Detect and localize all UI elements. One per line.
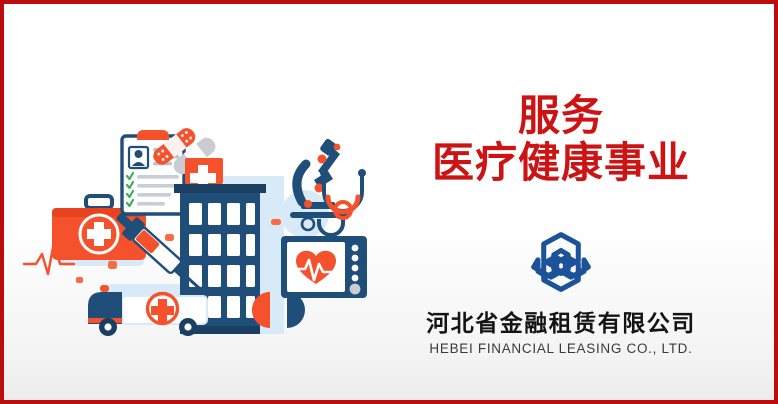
- headline-line-2: 医疗健康事业: [396, 139, 726, 186]
- company-logo-icon: [525, 226, 597, 298]
- brand-block: 河北省金融租赁有限公司 HEBEI FINANCIAL LEASING CO.,…: [396, 226, 726, 356]
- ecg-heart-monitor-icon: [281, 236, 367, 298]
- medical-healthcare-illustration: [22, 114, 392, 339]
- company-name-cn: 河北省金融租赁有限公司: [396, 304, 726, 338]
- headline-line-1: 服务: [396, 92, 726, 139]
- company-name-en: HEBEI FINANCIAL LEASING CO., LTD.: [396, 341, 726, 356]
- poster-frame: 服务 医疗健康事业 河北省金融租赁有限公司 HEBEI FINANCIAL LE…: [0, 0, 778, 404]
- poster-headline: 服务 医疗健康事业: [396, 92, 726, 186]
